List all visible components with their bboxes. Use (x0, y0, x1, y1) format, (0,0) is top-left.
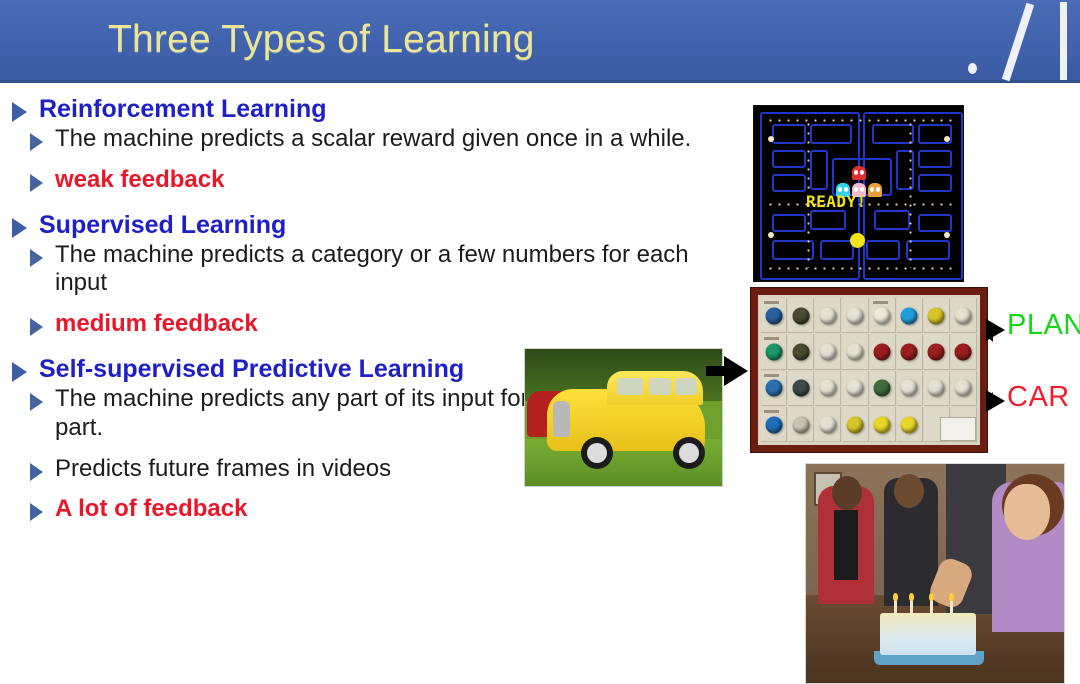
logo-dot-icon (968, 63, 977, 74)
spacer (0, 197, 745, 211)
car-wheel (673, 437, 705, 469)
ghost-icon (852, 166, 866, 180)
control-panel-face (758, 295, 980, 445)
pacman-game-screenshot: READY! (753, 105, 964, 282)
feedback-text: A lot of feedback (55, 495, 733, 524)
detail-text: The machine predicts a category or a few… (55, 241, 733, 299)
car-output-arrow-icon (986, 390, 1005, 412)
feedback-medium: medium feedback (30, 310, 745, 339)
input-arrow-tail (706, 366, 726, 376)
detail-supervised-learning: The machine predicts a category or a few… (30, 241, 745, 299)
detail-reinforcement-learning: The machine predicts a scalar reward giv… (30, 125, 745, 154)
person-child-middle-head (894, 474, 924, 508)
panel-meter (940, 417, 976, 441)
feedback-a-lot: A lot of feedback (30, 495, 745, 524)
triangle-bullet-icon (30, 318, 43, 336)
logo-slash-icon (1002, 3, 1034, 82)
output-label-plane: PLANE (1007, 309, 1080, 342)
heading-text: Reinforcement Learning (39, 95, 745, 123)
heading-text: Supervised Learning (39, 211, 745, 239)
presentation-slide: Three Types of Learning Reinforcement Le… (0, 0, 1080, 684)
feedback-weak: weak feedback (30, 166, 745, 195)
person-child-right-head (1004, 484, 1050, 540)
section-heading-reinforcement-learning: Reinforcement Learning (12, 95, 745, 123)
birthday-cake (880, 613, 976, 655)
triangle-bullet-icon (30, 133, 43, 151)
feedback-text: medium feedback (55, 310, 733, 339)
section-heading-supervised-learning: Supervised Learning (12, 211, 745, 239)
person-child-left-head (832, 476, 862, 510)
car-grille (553, 401, 570, 437)
ready-text: READY! (806, 192, 867, 211)
page-title: Three Types of Learning (108, 18, 535, 62)
pacman-icon (850, 233, 865, 248)
ghost-icon (868, 183, 882, 197)
yellow-car-photo (524, 348, 723, 487)
output-label-car: CAR (1007, 381, 1070, 414)
input-arrow-icon (724, 356, 748, 386)
spacer (0, 300, 745, 310)
control-panel-photo (750, 287, 988, 453)
spacer (0, 156, 745, 166)
feedback-text: weak feedback (55, 166, 733, 195)
triangle-bullet-icon (30, 463, 43, 481)
car-wheel (581, 437, 613, 469)
triangle-bullet-icon (12, 102, 27, 122)
triangle-bullet-icon (30, 393, 43, 411)
triangle-bullet-icon (30, 503, 43, 521)
detail-text: The machine predicts a scalar reward giv… (55, 125, 733, 154)
birthday-party-video-frame (805, 463, 1065, 684)
triangle-bullet-icon (12, 218, 27, 238)
triangle-bullet-icon (12, 362, 27, 382)
slide-header: Three Types of Learning (0, 0, 1080, 83)
triangle-bullet-icon (30, 249, 43, 267)
plane-output-arrow-icon (986, 319, 1005, 341)
triangle-bullet-icon (30, 174, 43, 192)
person-child-left-shirt (834, 510, 858, 580)
logo-bar-icon (1060, 2, 1067, 80)
